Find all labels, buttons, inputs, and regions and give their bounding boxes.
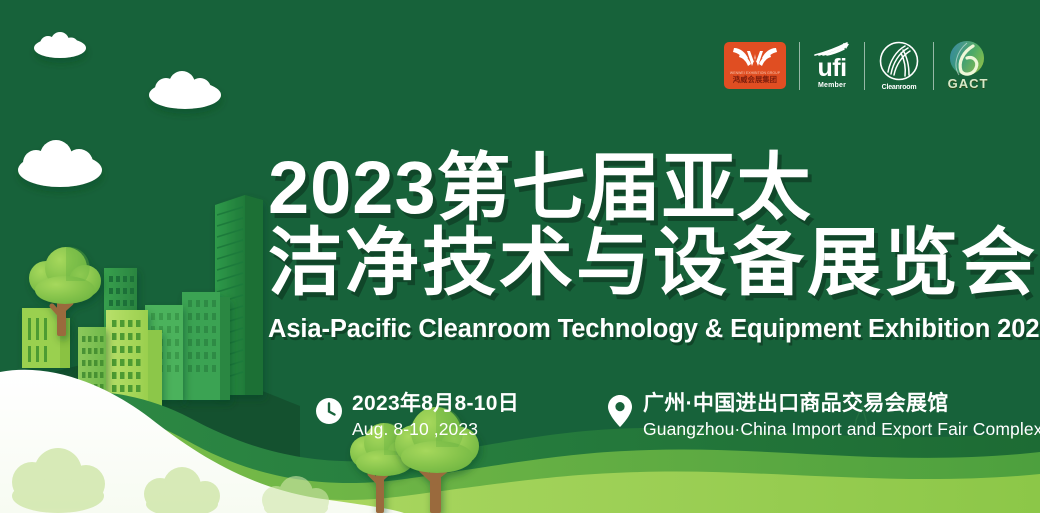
ufi-wordmark: ufi	[817, 57, 846, 80]
event-venue-cn: 广州·中国进出口商品交易会展馆	[643, 392, 1040, 416]
headline-block: 2023第七届亚太 洁净技术与设备展览会 Asia-Pacific Cleanr…	[268, 150, 1040, 344]
wenwei-wing-w-icon	[732, 45, 778, 71]
logo-cleanroom[interactable]: Cleanroom	[865, 41, 933, 91]
cleanroom-globe-icon	[878, 41, 920, 83]
event-date-en: Aug. 8-10 ,2023	[352, 419, 519, 440]
headline-cn-line1: 2023第七届亚太	[268, 150, 1040, 225]
exhibition-poster: WENWEI EXHIBITION GROUP 鸿威会展集团 ufi Membe…	[0, 0, 1040, 513]
wenwei-badge: WENWEI EXHIBITION GROUP 鸿威会展集团	[724, 42, 786, 89]
gact-sphere-icon	[947, 40, 989, 78]
headline-cn-line2: 洁净技术与设备展览会	[268, 225, 1040, 300]
headline-en-subtitle: Asia-Pacific Cleanroom Technology & Equi…	[268, 315, 1040, 344]
event-date-block: 2023年8月8-10日 Aug. 8-10 ,2023	[312, 392, 519, 440]
map-pin-icon	[603, 392, 637, 430]
event-venue-block: 广州·中国进出口商品交易会展馆 Guangzhou·China Import a…	[603, 392, 1040, 440]
clock-icon	[312, 392, 346, 430]
logo-strip: WENWEI EXHIBITION GROUP 鸿威会展集团 ufi Membe…	[711, 40, 1002, 91]
event-date-cn: 2023年8月8-10日	[352, 392, 519, 416]
logo-gact[interactable]: GACT	[934, 40, 1002, 91]
ufi-member-label: Member	[818, 82, 846, 89]
event-info-row: 2023年8月8-10日 Aug. 8-10 ,2023 广州·中国进出口商品交…	[312, 392, 1040, 440]
event-venue-en: Guangzhou·China Import and Export Fair C…	[643, 419, 1040, 440]
wenwei-name-cn: 鸿威会展集团	[733, 76, 777, 83]
skyscraper-mid-right	[182, 292, 230, 400]
cleanroom-wordmark: Cleanroom	[882, 84, 917, 91]
logo-wenwei-exhibition-group[interactable]: WENWEI EXHIBITION GROUP 鸿威会展集团	[711, 42, 799, 89]
gact-wordmark: GACT	[948, 76, 989, 91]
logo-ufi-member[interactable]: ufi Member	[800, 42, 864, 89]
